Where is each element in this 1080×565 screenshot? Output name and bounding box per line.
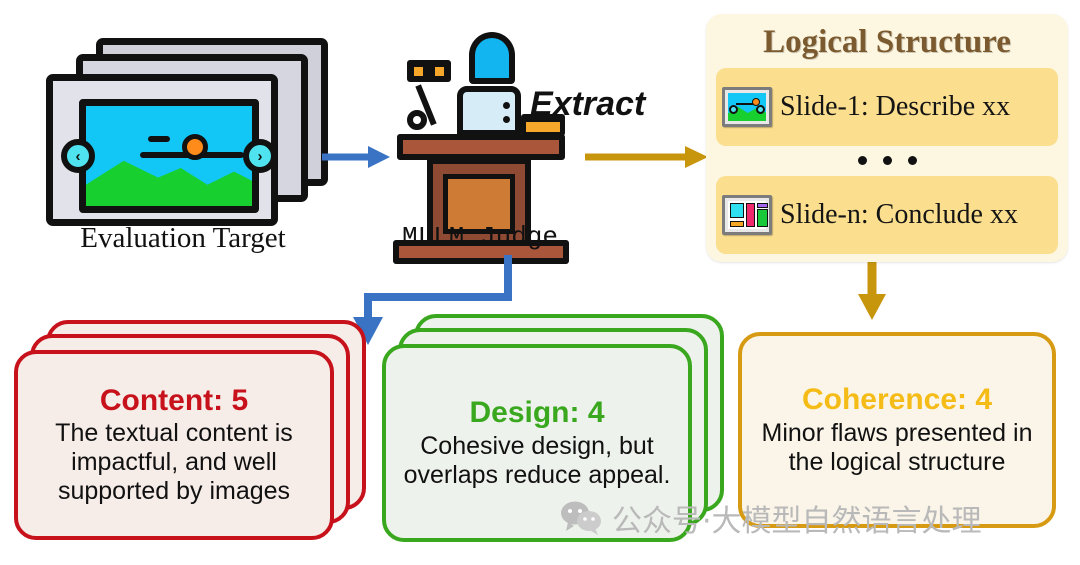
slide-stack-front: ‹ › bbox=[46, 74, 278, 226]
logical-structure-title: Logical Structure bbox=[716, 24, 1058, 62]
button-dot bbox=[503, 116, 510, 123]
chevron-right-icon bbox=[756, 105, 765, 114]
dot bbox=[908, 156, 917, 165]
mllm-judge-label: MLLM Judge bbox=[360, 222, 600, 252]
line-shape bbox=[148, 136, 170, 142]
layout-block bbox=[757, 209, 768, 227]
logical-structure-panel: Logical Structure Slide-1: Describe xx bbox=[706, 14, 1068, 262]
layout-block bbox=[730, 203, 744, 218]
button-dot bbox=[503, 102, 510, 109]
logical-structure-row-2-label: Slide-n: Conclude xx bbox=[780, 199, 1018, 231]
logical-structure-row-1[interactable]: Slide-1: Describe xx bbox=[716, 68, 1058, 146]
layout-block bbox=[730, 221, 744, 227]
chevron-left-icon: ‹ bbox=[61, 139, 95, 173]
chevron-right-icon: › bbox=[243, 139, 277, 173]
content-score-stack: Content: 5 Content: 5 Content: 5 The tex… bbox=[8, 318, 368, 558]
microphone-light bbox=[435, 67, 444, 76]
ellipsis-indicator bbox=[716, 146, 1058, 176]
design-score-body: Cohesive design, but overlaps reduce app… bbox=[398, 432, 676, 490]
logical-structure-row-1-label: Slide-1: Describe xx bbox=[780, 91, 1010, 123]
layout-thumb bbox=[728, 201, 766, 229]
coherence-arrow-icon bbox=[855, 262, 889, 324]
coherence-score-body: Minor flaws presented in the logical str… bbox=[754, 419, 1040, 477]
mountain-shape bbox=[82, 150, 259, 210]
sun-icon bbox=[182, 134, 208, 160]
design-score-title: Design: 4 bbox=[469, 396, 604, 430]
extract-label: Extract bbox=[530, 85, 645, 124]
wechat-icon bbox=[560, 501, 602, 535]
extract-arrow-icon bbox=[585, 142, 710, 172]
slide-image-icon bbox=[722, 87, 772, 127]
logical-structure-row-2[interactable]: Slide-n: Conclude xx bbox=[716, 176, 1058, 254]
coherence-score-title: Coherence: 4 bbox=[802, 383, 992, 417]
layout-block bbox=[757, 203, 768, 208]
line-shape bbox=[204, 152, 244, 158]
speaker-head-shape bbox=[469, 32, 515, 84]
photo-thumb bbox=[728, 93, 766, 121]
microphone-light bbox=[414, 67, 423, 76]
speaker-body-shape bbox=[457, 86, 521, 136]
dot bbox=[858, 156, 867, 165]
input-arrow-icon bbox=[322, 142, 392, 172]
slide-layout-icon bbox=[722, 195, 772, 235]
dot bbox=[883, 156, 892, 165]
chevron-left-icon bbox=[729, 105, 738, 114]
content-score-body: The textual content is impactful, and we… bbox=[30, 419, 318, 506]
podium-top bbox=[397, 134, 565, 160]
layout-block bbox=[746, 203, 755, 227]
evaluation-target-label: Evaluation Target bbox=[18, 222, 348, 255]
photo-image-icon bbox=[79, 99, 259, 213]
watermark: 公众号·大模型自然语言处理 bbox=[560, 496, 982, 540]
watermark-text: 公众号·大模型自然语言处理 bbox=[612, 496, 982, 540]
content-score-card[interactable]: Content: 5 The textual content is impact… bbox=[14, 350, 334, 540]
content-score-title: Content: 5 bbox=[100, 384, 248, 418]
microphone-base bbox=[407, 110, 427, 130]
